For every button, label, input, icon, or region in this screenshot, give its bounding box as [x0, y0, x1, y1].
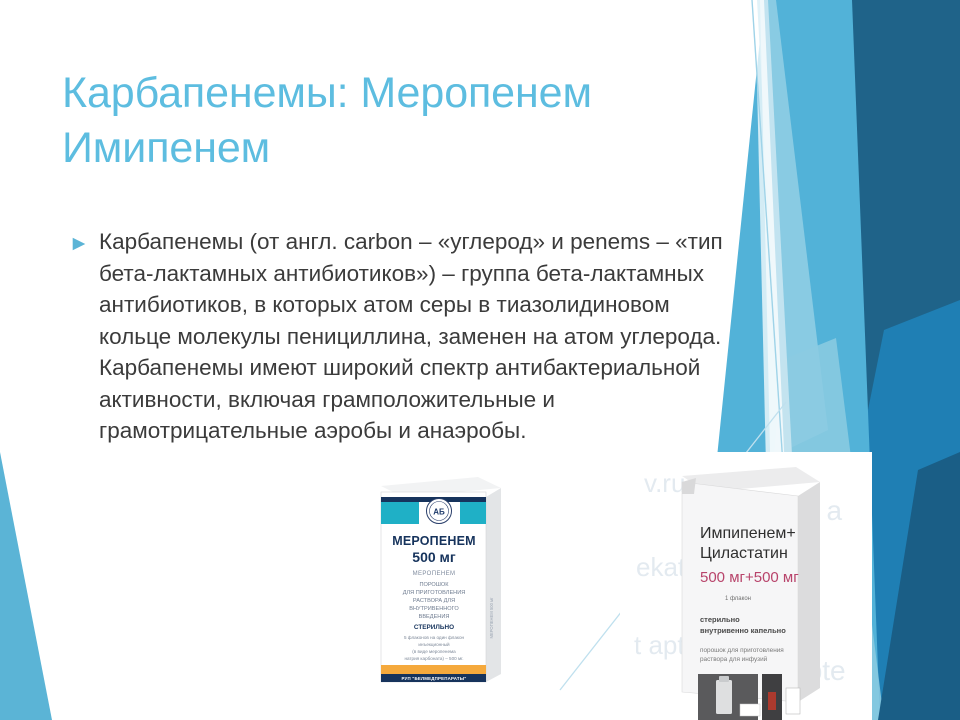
svg-text:порошок для приготовления: порошок для приготовления: [700, 647, 784, 654]
svg-text:ПОРОШОК: ПОРОШОК: [419, 582, 449, 588]
product-quantity-imipenem: 1 флакон: [725, 596, 751, 602]
background-shape-pale-upper: [757, 0, 828, 452]
product-sterile-meropenem: СТЕРИЛЬНО: [414, 624, 454, 631]
product-image-meropenem: АБ МЕРОПЕНЕМ 500 мг МЕРОПЕНЕМ ПОРОШОК ДЛ…: [370, 468, 512, 692]
carton-side-text: МЕРОПЕНЕМ 500 мг: [489, 597, 494, 639]
manufacturer-emblem-icon: АБ: [427, 499, 452, 524]
svg-text:v.ru: v.ru: [644, 468, 685, 498]
product-image-imipenem: v.ru apteka.ru a ekat ekkat) t apte ekt …: [620, 452, 872, 720]
svg-text:ekat: ekat: [636, 552, 686, 582]
svg-text:ВВЕДЕНИЯ: ВВЕДЕНИЯ: [419, 614, 450, 620]
svg-text:внутривенно капельно: внутривенно капельно: [700, 626, 786, 635]
slide: Карбапенемы: Меропенем Имипенем Карбапен…: [0, 0, 960, 720]
product-manufacturer-meropenem: РУП "БЕЛМЕДПРЕПАРАТЫ": [401, 676, 466, 681]
product-dose-meropenem: 500 мг: [412, 549, 456, 565]
svg-text:АБ: АБ: [433, 508, 445, 517]
svg-text:стерильно: стерильно: [700, 615, 740, 624]
svg-text:5 флаконов на один флакон: 5 флаконов на один флакон: [404, 635, 465, 640]
product-brand-meropenem: МЕРОПЕНЕМ: [392, 534, 476, 548]
carton-teal-left: [381, 502, 419, 524]
body-block: Карбапенемы (от англ. carbon – «углерод»…: [70, 226, 730, 447]
body-paragraph: Карбапенемы (от англ. carbon – «углерод»…: [99, 226, 730, 447]
carton-side-face: [798, 482, 820, 702]
carton-side-face: [486, 488, 501, 682]
triangle-right-icon: [70, 235, 90, 253]
svg-text:натрия карбоната) – 500 мг.: натрия карбоната) – 500 мг.: [404, 656, 463, 661]
title-block: Карбапенемы: Меропенем Имипенем: [62, 66, 762, 175]
page-title: Карбапенемы: Меропенем Имипенем: [62, 66, 762, 175]
product-brand-line2-imipenem: Циластатин: [700, 545, 788, 562]
product-brand-line1-imipenem: Импипенем+: [700, 525, 796, 542]
svg-text:ДЛЯ ПРИГОТОВЛЕНИЯ: ДЛЯ ПРИГОТОВЛЕНИЯ: [403, 590, 466, 596]
svg-text:раствора для инфузий: раствора для инфузий: [700, 655, 768, 663]
carton-front-face: [682, 482, 798, 702]
svg-text:РАСТВОРА ДЛЯ: РАСТВОРА ДЛЯ: [413, 598, 455, 604]
background-shape-left-wedge: [0, 452, 52, 720]
svg-text:инъекционный: инъекционный: [418, 641, 450, 647]
svg-text:ВНУТРИВЕННОГО: ВНУТРИВЕННОГО: [409, 606, 459, 612]
carton-teal-right: [460, 502, 486, 524]
svg-text:(в виде меропенема: (в виде меропенема: [412, 649, 456, 654]
background-shape-deep-facet: [878, 452, 960, 720]
product-dose-imipenem: 500 мг+500 мг: [700, 569, 799, 586]
product-inn-meropenem: МЕРОПЕНЕМ: [413, 571, 456, 577]
